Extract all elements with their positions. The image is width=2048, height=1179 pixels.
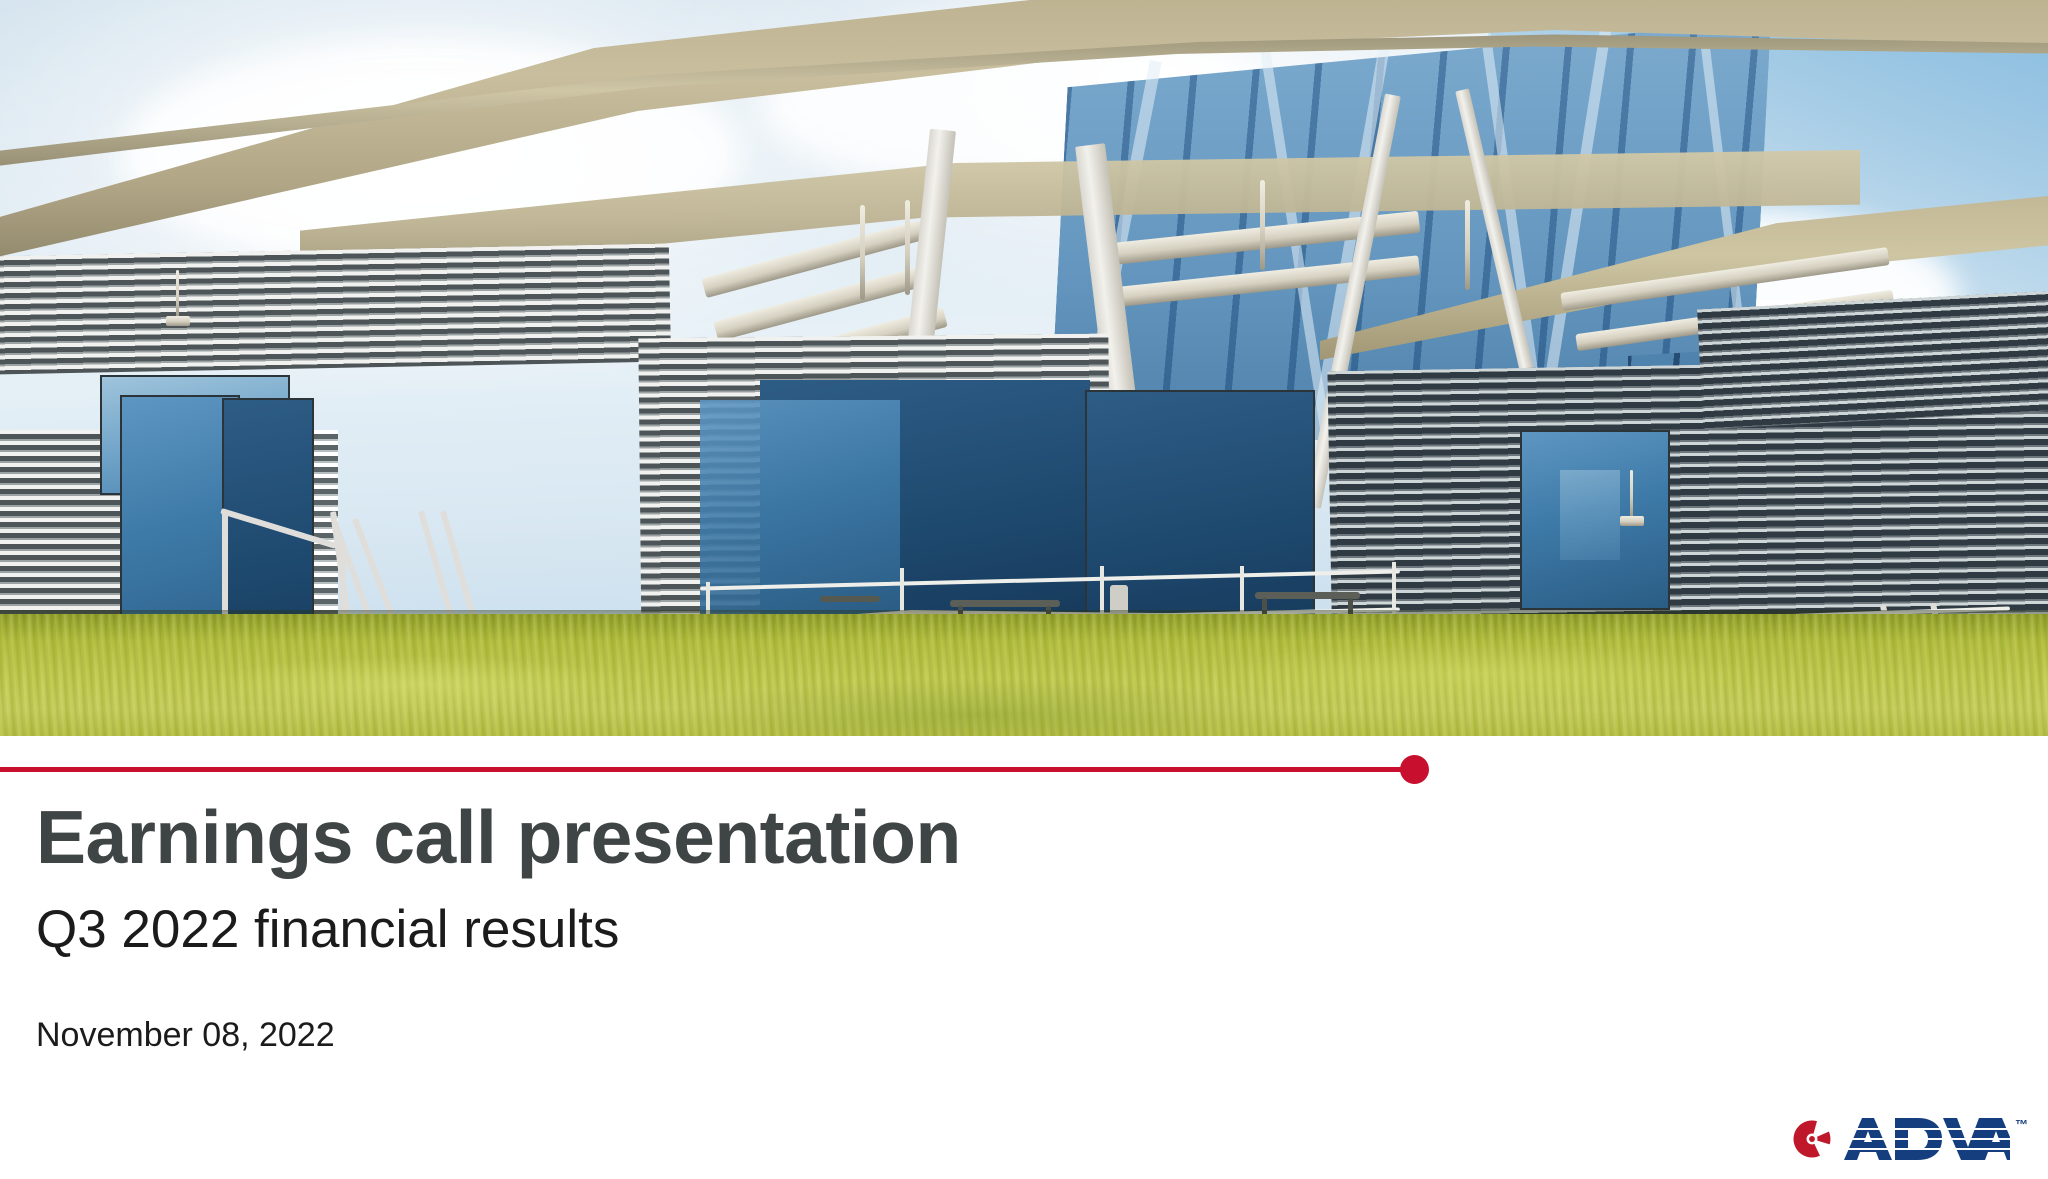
adva-circle-mark-icon <box>1791 1118 1833 1160</box>
hanger-rod <box>1260 180 1265 270</box>
presentation-date: November 08, 2022 <box>36 1018 1436 1052</box>
title-slide: Earnings call presentation Q3 2022 finan… <box>0 0 2048 1179</box>
window-pane <box>1560 470 1620 560</box>
divider-dot <box>1400 755 1429 784</box>
facade-louvres <box>1697 291 2048 430</box>
hanger-rod <box>860 205 865 300</box>
divider-line <box>0 767 1424 772</box>
trademark-symbol: ™ <box>2015 1117 2028 1132</box>
page-subtitle: Q3 2022 financial results <box>36 903 1436 956</box>
adva-wordmark-icon <box>1842 1116 2010 1162</box>
terrace-furniture <box>1255 592 1360 599</box>
adva-logo: ™ <box>1791 1113 2028 1165</box>
pendant-lamp <box>166 316 190 326</box>
pendant-lamp <box>176 270 179 318</box>
page-title: Earnings call presentation <box>36 800 1436 875</box>
pendant-lamp <box>1630 470 1633 518</box>
terrace-furniture <box>950 600 1060 607</box>
hanger-rod <box>905 200 910 295</box>
facade-louvres <box>0 243 671 374</box>
hanger-rod <box>1465 200 1470 290</box>
red-accent-divider <box>0 755 2048 791</box>
hero-building-photo <box>0 0 2048 736</box>
pendant-lamp <box>1620 516 1644 526</box>
terrace-furniture <box>820 596 880 602</box>
title-text-block: Earnings call presentation Q3 2022 finan… <box>36 800 1436 1052</box>
grass-meadow <box>0 614 2048 736</box>
